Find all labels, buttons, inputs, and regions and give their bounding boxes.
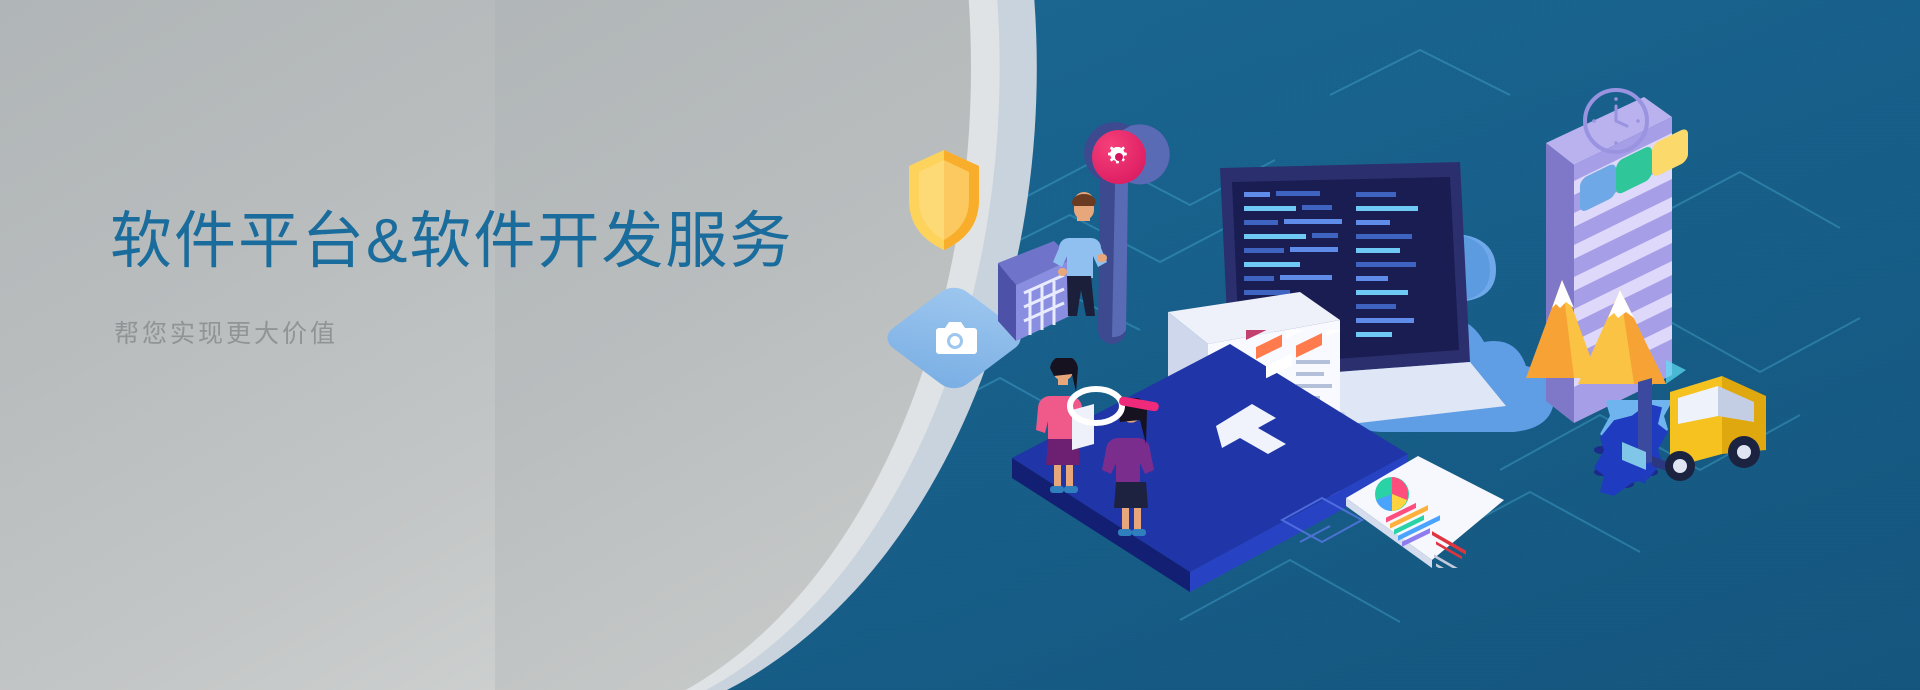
hero-illustration [860, 0, 1920, 690]
hero-copy: 软件平台&软件开发服务 帮您实现更大价值 [110, 205, 830, 354]
gear-icon [1106, 144, 1132, 170]
engineer-figure [1045, 192, 1115, 322]
page-title: 软件平台&软件开发服务 [110, 205, 830, 278]
forklift-vehicle [1618, 358, 1808, 488]
page-subtitle: 帮您实现更大价值 [114, 316, 830, 354]
report-card [1340, 448, 1510, 568]
magnifier-icon [1066, 382, 1162, 430]
hero-banner: 软件平台&软件开发服务 帮您实现更大价值 [0, 0, 1920, 690]
shield-icon [905, 148, 983, 252]
camera-icon [932, 318, 978, 358]
clock-icon [1583, 88, 1649, 154]
